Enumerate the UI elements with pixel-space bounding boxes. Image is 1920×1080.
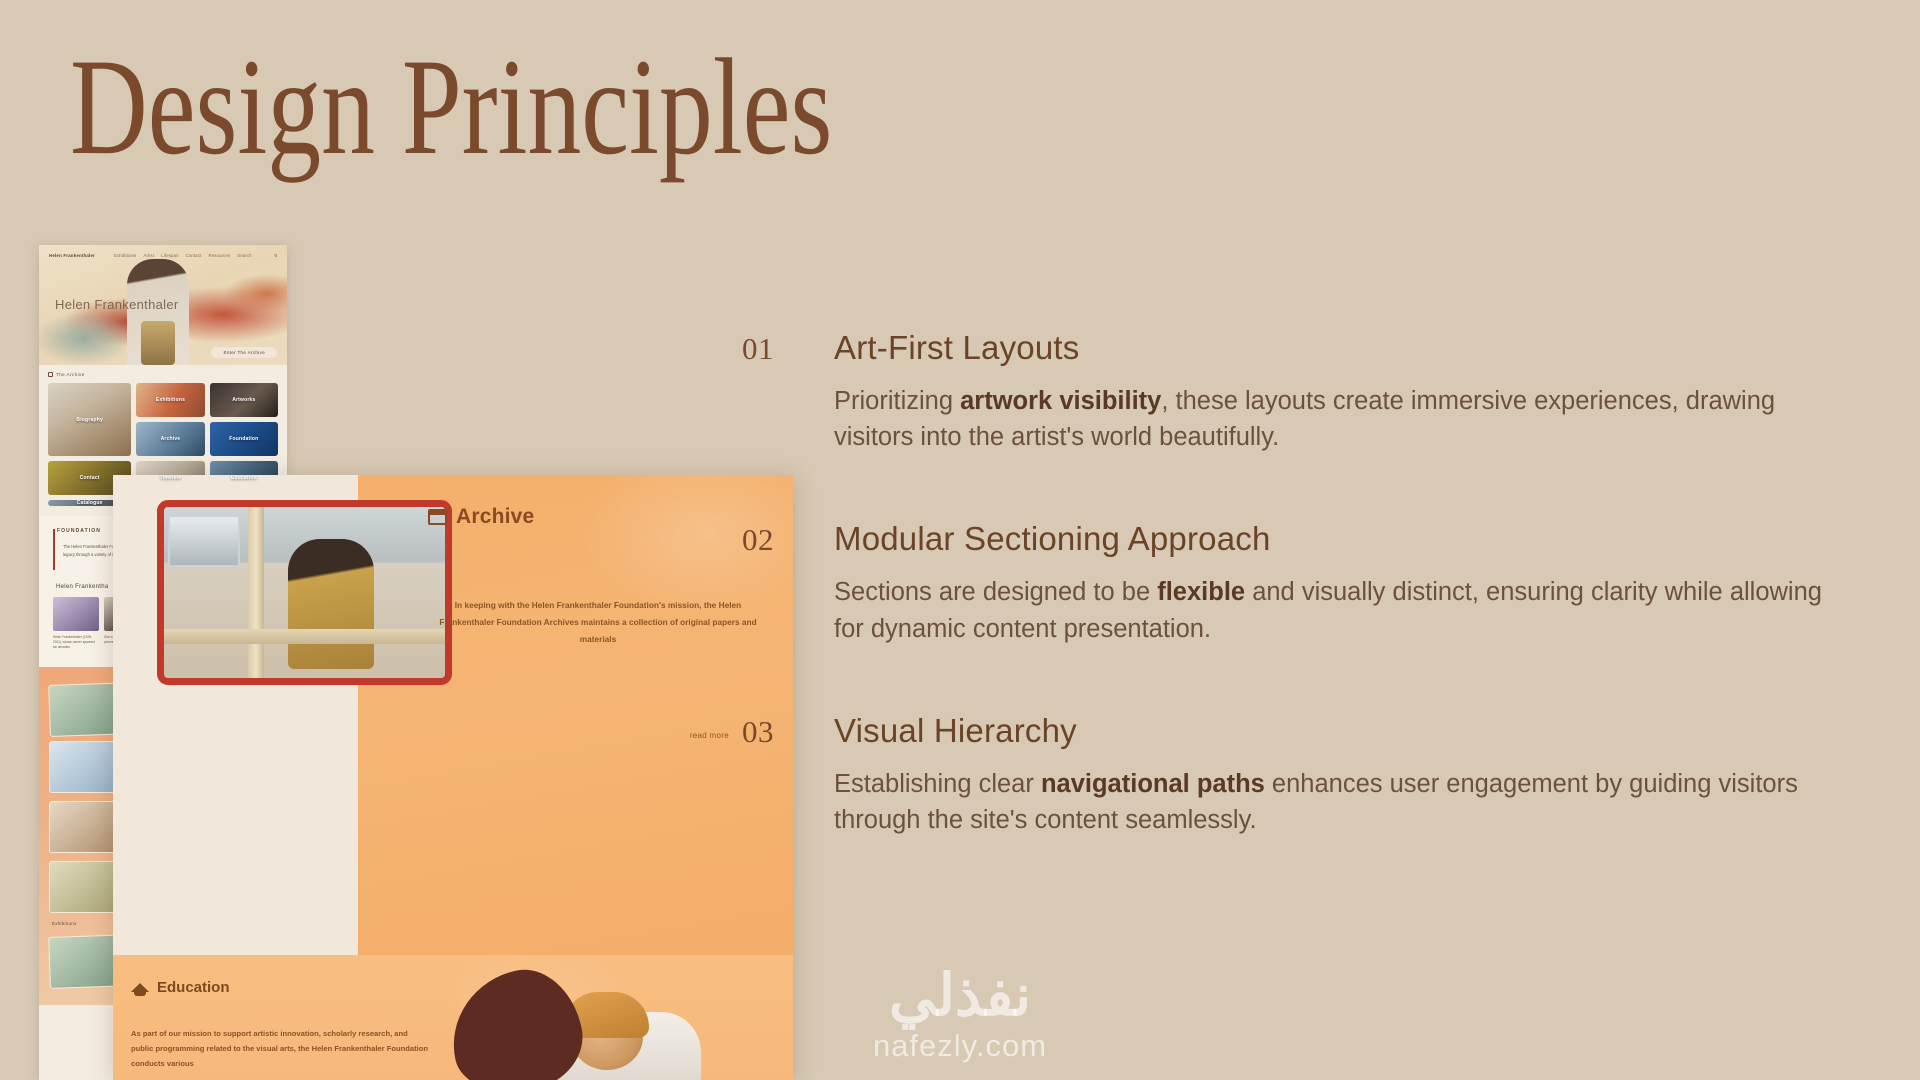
- photo-hair: [563, 992, 649, 1038]
- principle-item-02: 02 Modular Sectioning Approach Sections …: [742, 521, 1862, 646]
- principle-number: 03: [742, 714, 834, 750]
- archive-card-catalogue[interactable]: Catalogue: [48, 500, 131, 506]
- mockup-archive-section: The Archive Biography Exhibitions Artwor…: [39, 365, 287, 516]
- artist-caption-1: Helen Frankenthaler (1928-2011), whose c…: [53, 635, 99, 650]
- paper-texture-overlay: [358, 475, 793, 955]
- principle-header: 03 Visual Hierarchy: [742, 713, 1862, 750]
- principle-title: Art-First Layouts: [834, 330, 1079, 366]
- exhibition-thumbnail[interactable]: [49, 741, 277, 793]
- principles-list: 01 Art-First Layouts Prioritizing artwor…: [742, 330, 1862, 838]
- mockup-nav-link-contact[interactable]: Contact: [186, 253, 202, 258]
- photo-paint-blob: [440, 960, 592, 1080]
- principle-item-01: 01 Art-First Layouts Prioritizing artwor…: [742, 330, 1862, 455]
- mockup-nav-link-search[interactable]: Search: [237, 253, 251, 258]
- photo-face: [571, 1004, 643, 1070]
- principle-number: 01: [742, 331, 834, 367]
- principle-description-before: Establishing clear: [834, 770, 1041, 798]
- mockup-foundation-section: FOUNDATION The Helen Frankenthaler Found…: [39, 516, 287, 667]
- photo-subject-figure: [288, 539, 374, 669]
- principle-item-03: 03 Visual Hierarchy Establishing clear n…: [742, 713, 1862, 838]
- exhibition-thumbnail[interactable]: [48, 677, 278, 737]
- photo-beam-vertical: [248, 507, 264, 678]
- archive-description: In keeping with the Helen Frankenthaler …: [428, 597, 768, 648]
- archive-card-artworks[interactable]: Artworks: [210, 383, 278, 417]
- mockup-archive-section-label: The Archive: [48, 372, 278, 377]
- mockup-nav-link-lifespan[interactable]: Lifespan: [161, 253, 178, 258]
- enter-the-archive-button[interactable]: Enter The Archive: [211, 347, 277, 358]
- mockup-artist-images: [53, 597, 273, 631]
- watermark: نفذلي nafezly.com: [873, 967, 1047, 1066]
- mockup-nav-link-resources[interactable]: Resources: [209, 253, 231, 258]
- archive-box-icon: [428, 509, 447, 525]
- education-heading: Education: [131, 979, 230, 996]
- principle-description-before: Prioritizing: [834, 387, 960, 415]
- mockup-hero-section: Helen Frankenthaler Exhibitions Artist L…: [39, 245, 287, 365]
- archive-read-more-link[interactable]: read more: [690, 731, 729, 740]
- principle-description-highlight: navigational paths: [1041, 770, 1265, 798]
- education-heading-label: Education: [157, 979, 230, 996]
- principle-header: 01 Art-First Layouts: [742, 330, 1862, 367]
- principle-title: Modular Sectioning Approach: [834, 521, 1271, 557]
- archive-box-icon: [48, 372, 53, 377]
- mockup-artist-title: Helen Frankentha: [53, 584, 273, 590]
- mockup-cart-count[interactable]: 0: [274, 253, 277, 258]
- archive-card-right-panel: [358, 475, 793, 955]
- mockup-artist-captions: Helen Frankenthaler (1928-2011), whose c…: [53, 635, 273, 650]
- archive-card-contact[interactable]: Contact: [48, 461, 131, 495]
- photo-pillow: [521, 1012, 701, 1080]
- education-photo: [451, 964, 701, 1080]
- page-title: Design Principles: [70, 38, 832, 176]
- mockup-exhibitions-column: Exhibitions: [39, 667, 287, 1005]
- archive-card-biography[interactable]: Biography: [48, 383, 131, 456]
- archive-heading: Archive: [428, 505, 534, 529]
- archive-card-exhibitions[interactable]: Exhibitions: [136, 383, 204, 417]
- mockup-artist-block: Helen Frankentha Helen Frankenthaler (19…: [53, 584, 273, 650]
- archive-featured-photo: [157, 500, 452, 685]
- principle-description-highlight: artwork visibility: [960, 387, 1161, 415]
- archive-card-top: Archive In keeping with the Helen Franke…: [113, 475, 793, 955]
- principle-header: 02 Modular Sectioning Approach: [742, 521, 1862, 558]
- archive-page-screenshot: Archive In keeping with the Helen Franke…: [113, 475, 793, 1080]
- graduation-cap-icon: [131, 983, 149, 992]
- watermark-arabic-text: نفذلي: [873, 967, 1047, 1025]
- principle-description: Establishing clear navigational paths en…: [834, 766, 1844, 838]
- exhibition-thumbnail[interactable]: [49, 861, 277, 913]
- education-section: Education As part of our mission to supp…: [113, 955, 793, 1080]
- mockup-foundation-title: FOUNDATION: [53, 528, 273, 534]
- principle-description: Prioritizing artwork visibility, these l…: [834, 383, 1844, 455]
- mockup-archive-card-grid: Biography Exhibitions Artworks Archive F…: [48, 383, 278, 506]
- artist-caption-2: She was a major artist and pioneer: [104, 635, 150, 650]
- archive-heading-label: Archive: [456, 505, 534, 529]
- mockup-hero-portrait: [127, 259, 189, 365]
- mockup-nav-link-exhibitions[interactable]: Exhibitions: [114, 253, 136, 258]
- archive-card-education[interactable]: Education: [210, 461, 278, 495]
- exhibition-thumbnail[interactable]: [49, 801, 277, 853]
- principle-number: 02: [742, 522, 834, 558]
- website-mockup-screenshot: Helen Frankenthaler Exhibitions Artist L…: [39, 245, 287, 1080]
- photo-background: [164, 507, 445, 678]
- mockup-nav-link-artist[interactable]: Artist: [143, 253, 154, 258]
- mockup-hero-title: Helen Frankenthaler: [55, 297, 179, 312]
- mockup-foundation-body: The Helen Frankenthaler Foundation suppo…: [53, 543, 173, 558]
- principle-description: Sections are designed to be flexible and…: [834, 574, 1844, 646]
- archive-card-archive[interactable]: Archive: [136, 422, 204, 456]
- archive-card-foundation[interactable]: Foundation: [210, 422, 278, 456]
- mockup-navbar: Helen Frankenthaler Exhibitions Artist L…: [49, 253, 277, 258]
- mockup-exhibitions-label: Exhibitions: [49, 921, 277, 926]
- archive-card-left-panel: [113, 475, 358, 955]
- exhibition-thumbnail[interactable]: [48, 929, 278, 989]
- mockup-nav-brand: Helen Frankenthaler: [49, 253, 95, 258]
- archive-card-timeline[interactable]: Timeline: [136, 461, 204, 495]
- photo-beam-horizontal: [164, 629, 445, 644]
- education-description: As part of our mission to support artist…: [131, 1027, 431, 1071]
- principle-description-highlight: flexible: [1157, 578, 1245, 606]
- watermark-domain: nafezly.com: [873, 1027, 1047, 1066]
- photo-window: [168, 515, 240, 567]
- principle-description-before: Sections are designed to be: [834, 578, 1157, 606]
- principle-title: Visual Hierarchy: [834, 713, 1077, 749]
